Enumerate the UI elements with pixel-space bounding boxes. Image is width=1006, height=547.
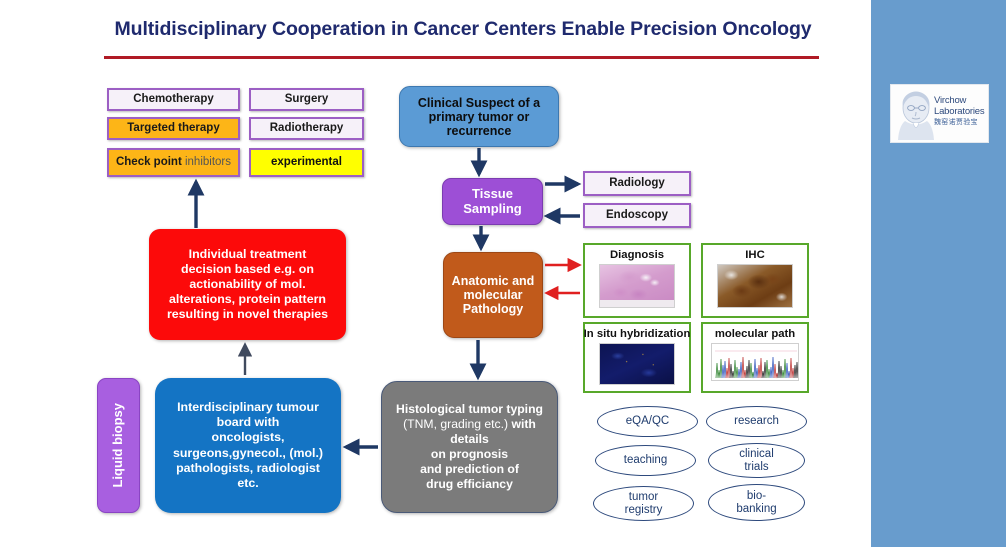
pathology-line-3: Pathology	[463, 302, 523, 316]
individual-line-4: alterations, protein pattern	[169, 292, 326, 306]
clinical-line-2: primary tumor or	[429, 110, 530, 124]
flow-node-clinical-suspect[interactable]: Clinical Suspect of a primary tumor or r…	[399, 86, 559, 147]
image-panel-molecular-path[interactable]: molecular path	[701, 322, 809, 393]
slide-canvas: Virchow Laboratories 魏窑诺贾验宝 Multidiscipl…	[0, 0, 1006, 547]
histo-line-5: and prediction of	[420, 462, 519, 476]
histo-line-2-bold: with	[508, 417, 536, 431]
histo-line-1: Histological tumor typing	[396, 402, 543, 416]
logo-cjk-line: 魏窑诺贾验宝	[934, 118, 989, 127]
therapy-box-radiotherapy[interactable]: Radiotherapy	[249, 117, 364, 140]
histo-line-2-light: (TNM, grading etc.)	[403, 417, 508, 431]
service-label-line-2: banking	[736, 503, 776, 515]
virchow-laboratories-logo: Virchow Laboratories 魏窑诺贾验宝	[890, 84, 989, 143]
flow-node-interdisciplinary-tumour-board[interactable]: Interdisciplinary tumour board with onco…	[155, 378, 341, 513]
histo-line-6: drug efficiancy	[426, 477, 513, 491]
flow-node-individual-treatment-decision[interactable]: Individual treatment decision based e.g.…	[149, 229, 346, 340]
service-ellipse-research[interactable]: research	[706, 406, 807, 437]
fish-thumbnail	[599, 343, 675, 385]
image-panel-in-situ-hybridization[interactable]: In situ hybridization	[583, 322, 691, 393]
therapy-label: Surgery	[285, 93, 328, 106]
logo-line-2: Laboratories	[934, 106, 989, 117]
flow-node-histological-tumor-typing[interactable]: Histological tumor typing (TNM, grading …	[381, 381, 558, 513]
panel-caption: Diagnosis	[610, 249, 664, 261]
therapy-label-light: inhibitors	[185, 156, 231, 168]
therapy-label: Chemotherapy	[133, 93, 214, 106]
therapy-box-targeted-therapy[interactable]: Targeted therapy	[107, 117, 240, 140]
panel-caption: molecular path	[715, 328, 795, 340]
service-label: eQA/QC	[626, 415, 669, 428]
flow-node-anatomic-molecular-pathology[interactable]: Anatomic and molecular Pathology	[443, 252, 543, 338]
individual-line-2: decision based e.g. on	[181, 262, 314, 276]
board-line-4: surgeons,gynecol., (mol.)	[173, 446, 323, 460]
logo-line-1: Virchow	[934, 95, 989, 106]
endoscopy-label: Endoscopy	[606, 209, 668, 222]
virchow-portrait-icon	[893, 88, 937, 141]
board-line-2: board with	[217, 415, 280, 429]
flow-node-endoscopy[interactable]: Endoscopy	[583, 203, 691, 228]
page-title: Multidisciplinary Cooperation in Cancer …	[103, 18, 823, 41]
service-ellipse-tumor-registry[interactable]: tumor registry	[593, 486, 694, 521]
service-label-line-1: clinical	[739, 448, 774, 460]
panel-caption: IHC	[745, 249, 764, 261]
board-line-1: Interdisciplinary tumour	[177, 400, 319, 414]
tissue-line-1: Tissue	[472, 186, 513, 201]
service-ellipse-bio-banking[interactable]: bio- banking	[708, 484, 805, 521]
service-label-line-2: trials	[744, 461, 768, 473]
clinical-line-1: Clinical Suspect of a	[418, 96, 540, 110]
flow-node-tissue-sampling[interactable]: Tissue Sampling	[442, 178, 543, 225]
individual-line-1: Individual treatment	[189, 247, 307, 261]
pathology-line-2: molecular	[463, 288, 522, 302]
therapy-label: Radiotherapy	[270, 122, 344, 135]
service-label-line-1: bio-	[747, 490, 766, 502]
service-label-line-1: tumor	[629, 491, 658, 503]
clinical-line-3: recurrence	[447, 124, 512, 138]
therapy-label: Targeted therapy	[127, 122, 219, 135]
tissue-line-2: Sampling	[463, 201, 522, 216]
histo-line-4: on prognosis	[431, 447, 508, 461]
service-label-line-2: registry	[625, 504, 663, 516]
title-divider	[104, 56, 819, 59]
sequencing-trace-thumbnail	[711, 343, 799, 381]
individual-line-3: actionability of mol.	[189, 277, 305, 291]
image-panel-diagnosis[interactable]: Diagnosis	[583, 243, 691, 318]
histo-line-3: details	[450, 432, 489, 446]
board-line-5: pathologists, radiologist	[176, 461, 320, 475]
radiology-label: Radiology	[609, 177, 665, 190]
therapy-label-bold: Check point	[116, 156, 182, 168]
individual-line-5: resulting in novel therapies	[167, 307, 328, 321]
service-ellipse-clinical-trials[interactable]: clinical trials	[708, 443, 805, 478]
board-line-6: etc.	[237, 476, 258, 490]
panel-caption: In situ hybridization	[584, 328, 691, 340]
service-label: research	[734, 415, 779, 428]
he-histology-thumbnail	[599, 264, 675, 308]
therapy-box-experimental[interactable]: experimental	[249, 148, 364, 177]
flow-node-radiology[interactable]: Radiology	[583, 171, 691, 196]
therapy-box-surgery[interactable]: Surgery	[249, 88, 364, 111]
service-label: teaching	[624, 454, 667, 467]
pathology-line-1: Anatomic and	[452, 274, 535, 288]
therapy-box-check-point-inhibitors[interactable]: Check point inhibitors	[107, 148, 240, 177]
therapy-box-chemotherapy[interactable]: Chemotherapy	[107, 88, 240, 111]
service-ellipse-eqa-qc[interactable]: eQA/QC	[597, 406, 698, 437]
flow-node-liquid-biopsy[interactable]: Liquid biopsy	[97, 378, 140, 513]
therapy-label: experimental	[271, 156, 342, 169]
image-panel-ihc[interactable]: IHC	[701, 243, 809, 318]
immunohistochemistry-thumbnail	[717, 264, 793, 308]
service-ellipse-teaching[interactable]: teaching	[595, 445, 696, 476]
liquid-biopsy-label: Liquid biopsy	[111, 403, 126, 488]
side-panel: Virchow Laboratories 魏窑诺贾验宝	[871, 0, 1006, 547]
board-line-3: oncologists,	[212, 430, 285, 444]
